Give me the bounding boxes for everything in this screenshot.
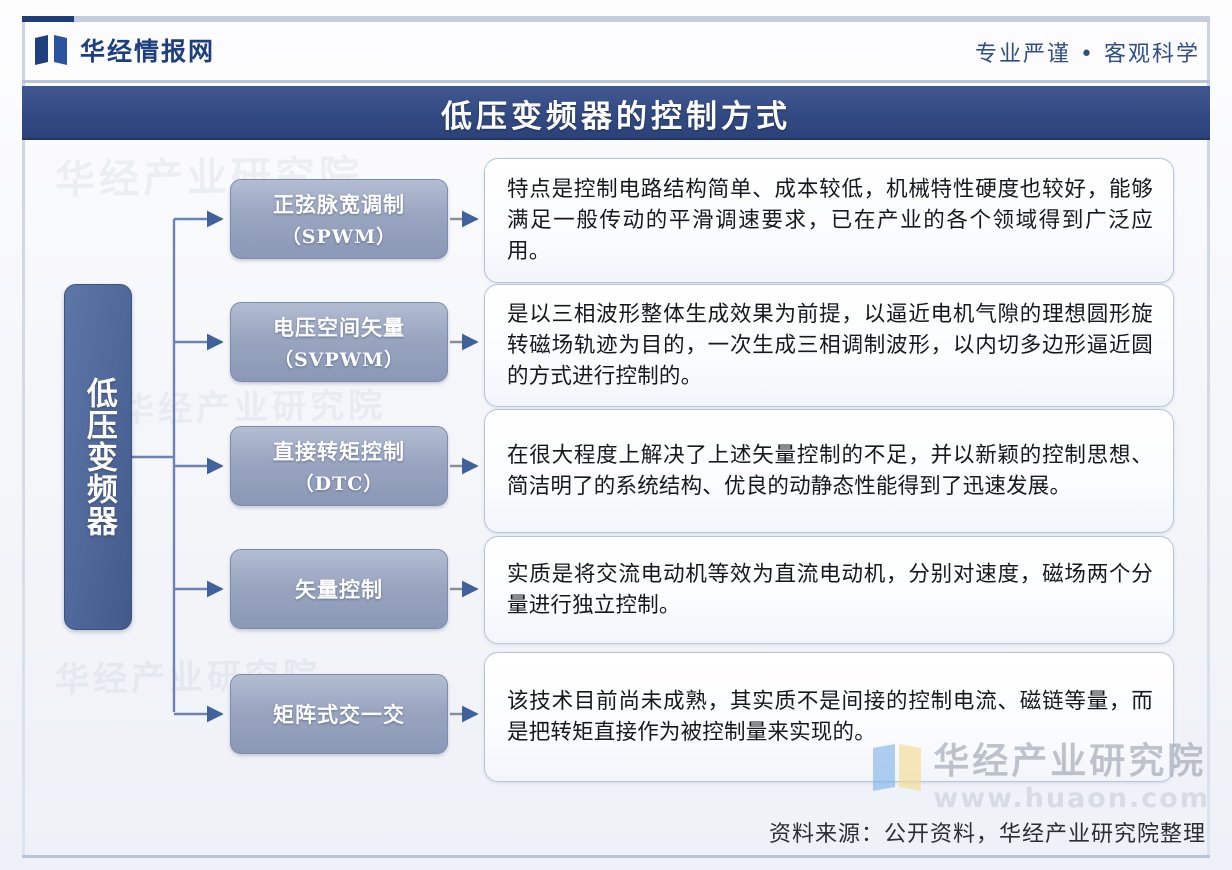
page-header: 华经情报网 专业严谨 • 客观科学 [22,30,1210,78]
description-box-spwm: 特点是控制电路结构简单、成本较低，机械特性硬度也较好，能够满足一般传动的平滑调速… [484,158,1174,283]
watermark: 华经产业研究院 www.huaon.com [871,743,1210,814]
branch-label-line2: （DTC） [295,469,384,496]
branch-node-matrix-ac-ac[interactable]: 矩阵式交一交 [230,674,448,754]
description-text: 该技术目前尚未成熟，其实质不是间接的控制电流、磁链等量，而是把转矩直接作为被控制… [507,686,1153,748]
header-divider [22,80,1210,83]
description-box-dtc: 在很大程度上解决了上述矢量控制的不足，并以新颖的控制思想、简洁明了的系统结构、优… [484,409,1174,533]
root-node[interactable]: 低压变频器 [64,284,132,630]
watermark-url: www.huaon.com [933,783,1210,814]
book-logo-icon [34,35,68,65]
branch-node-vector-control[interactable]: 矢量控制 [230,549,448,629]
description-box-vector-control: 实质是将交流电动机等效为直流电动机，分别对速度，磁场两个分量进行独立控制。 [484,536,1174,644]
description-text: 特点是控制电路结构简单、成本较低，机械特性硬度也较好，能够满足一般传动的平滑调速… [507,174,1153,268]
header-slogan: 专业严谨 • 客观科学 [975,36,1200,68]
branch-label-line1: 电压空间矢量 [273,312,405,342]
description-box-svpwm: 是以三相波形整体生成效果为前提，以逼近电机气隙的理想圆形旋转磁场轨迹为目的，一次… [484,284,1174,407]
branch-label-line1: 正弦脉宽调制 [273,189,405,219]
brand: 华经情报网 [34,32,215,68]
top-rule [22,16,1210,22]
description-text: 是以三相波形整体生成效果为前提，以逼近电机气隙的理想圆形旋转磁场轨迹为目的，一次… [507,299,1153,393]
description-text: 实质是将交流电动机等效为直流电动机，分别对速度，磁场两个分量进行独立控制。 [507,559,1153,621]
brand-name: 华经情报网 [80,32,215,68]
top-rule-accent-segment [22,16,74,22]
infographic-page: 华经产业研究院 华经产业研究院 华经产业研究院 华经情报网 专业严谨 • 客观科… [0,0,1232,870]
bottom-rule [22,855,1210,858]
branch-label-line2: （SVPWM） [274,345,404,372]
branch-label-line2: （SPWM） [282,222,396,249]
branch-node-spwm[interactable]: 正弦脉宽调制 （SPWM） [230,179,448,259]
title-banner: 低压变频器的控制方式 [22,86,1210,140]
branch-label-line1: 矢量控制 [295,574,383,604]
watermark-texts: 华经产业研究院 www.huaon.com [933,743,1210,814]
diagram-canvas: 低压变频器 正弦脉宽调制 （SPWM） 电压空间矢量 （SVPWM） 直接转矩控… [22,144,1210,824]
branch-node-dtc[interactable]: 直接转矩控制 （DTC） [230,426,448,506]
book-logo-icon [871,743,923,791]
branch-label-line1: 直接转矩控制 [273,436,405,466]
source-note: 资料来源：公开资料，华经产业研究院整理 [769,816,1206,848]
page-title: 低压变频器的控制方式 [441,91,791,136]
branch-label-line1: 矩阵式交一交 [273,699,405,729]
watermark-title: 华经产业研究院 [933,743,1210,781]
description-text: 在很大程度上解决了上述矢量控制的不足，并以新颖的控制思想、简洁明了的系统结构、优… [507,440,1153,502]
branch-node-svpwm[interactable]: 电压空间矢量 （SVPWM） [230,302,448,382]
root-node-label: 低压变频器 [79,377,117,537]
